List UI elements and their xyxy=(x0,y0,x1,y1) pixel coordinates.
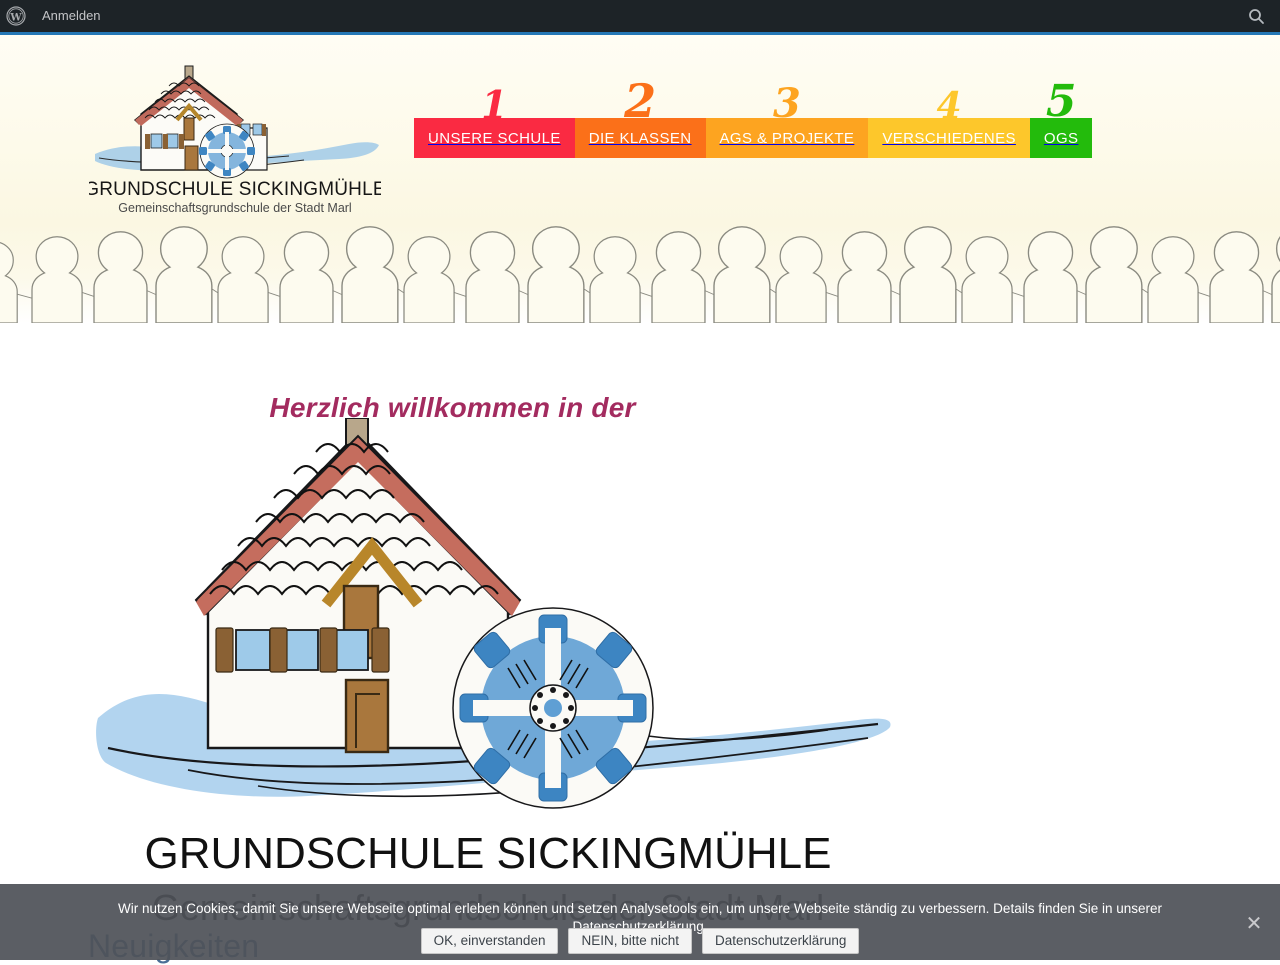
cookie-button-decline[interactable]: NEIN, bitte nicht xyxy=(568,928,692,954)
nav-item-label: VERSCHIEDENES xyxy=(882,130,1016,147)
nav-item-label: UNSERE SCHULE xyxy=(428,130,561,147)
cookie-consent-banner: Wir nutzen Cookies, damit Sie unsere Web… xyxy=(0,884,1280,960)
nav-item-unsere-schule[interactable]: 1UNSERE SCHULE xyxy=(414,118,575,158)
svg-text:Gemeinschaftsgrundschule der S: Gemeinschaftsgrundschule der Stadt Marl xyxy=(118,201,351,215)
cookie-button-privacy-policy[interactable]: Datenschutzerklärung xyxy=(702,928,859,954)
svg-text:GRUNDSCHULE SICKINGMÜHLE: GRUNDSCHULE SICKINGMÜHLE xyxy=(89,179,381,200)
nav-item-verschiedenes[interactable]: 4VERSCHIEDENES xyxy=(868,118,1030,158)
wp-admin-bar: W Anmelden xyxy=(0,0,1280,32)
nav-item-die-klassen[interactable]: 2DIE KLASSEN xyxy=(575,118,706,158)
main-content: Herzlich willkommen in der xyxy=(0,323,1280,960)
main-navigation[interactable]: 1UNSERE SCHULE2DIE KLASSEN3AGS & PROJEKT… xyxy=(414,118,1092,158)
hero-title-text: GRUNDSCHULE SICKINGMÜHLE xyxy=(145,829,832,878)
nav-item-ags-projekte[interactable]: 3AGS & PROJEKTE xyxy=(706,118,869,158)
nav-item-label: OGS xyxy=(1044,130,1079,147)
nav-item-label: DIE KLASSEN xyxy=(589,130,692,147)
admin-bar-login-link[interactable]: Anmelden xyxy=(32,0,111,32)
site-logo[interactable]: GRUNDSCHULE SICKINGMÜHLE Gemeinschaftsgr… xyxy=(89,62,381,220)
hero-school-illustration[interactable]: GRUNDSCHULE SICKINGMÜHLE Gemeinschaftsgr… xyxy=(88,418,898,938)
close-icon[interactable]: ✕ xyxy=(1242,912,1266,936)
paper-doll-chain-decoration xyxy=(0,223,1280,323)
search-icon[interactable] xyxy=(1240,0,1272,32)
wordpress-logo-icon[interactable]: W xyxy=(0,0,32,32)
nav-item-label: AGS & PROJEKTE xyxy=(720,130,855,147)
admin-bar-accent-line xyxy=(0,32,1280,35)
cookie-banner-buttons: OK, einverstandenNEIN, bitte nichtDatens… xyxy=(0,928,1280,954)
admin-bar-left-group: W Anmelden xyxy=(0,0,111,32)
nav-item-ogs[interactable]: 5OGS xyxy=(1030,118,1093,158)
cookie-button-accept[interactable]: OK, einverstanden xyxy=(421,928,559,954)
svg-text:W: W xyxy=(9,13,22,24)
